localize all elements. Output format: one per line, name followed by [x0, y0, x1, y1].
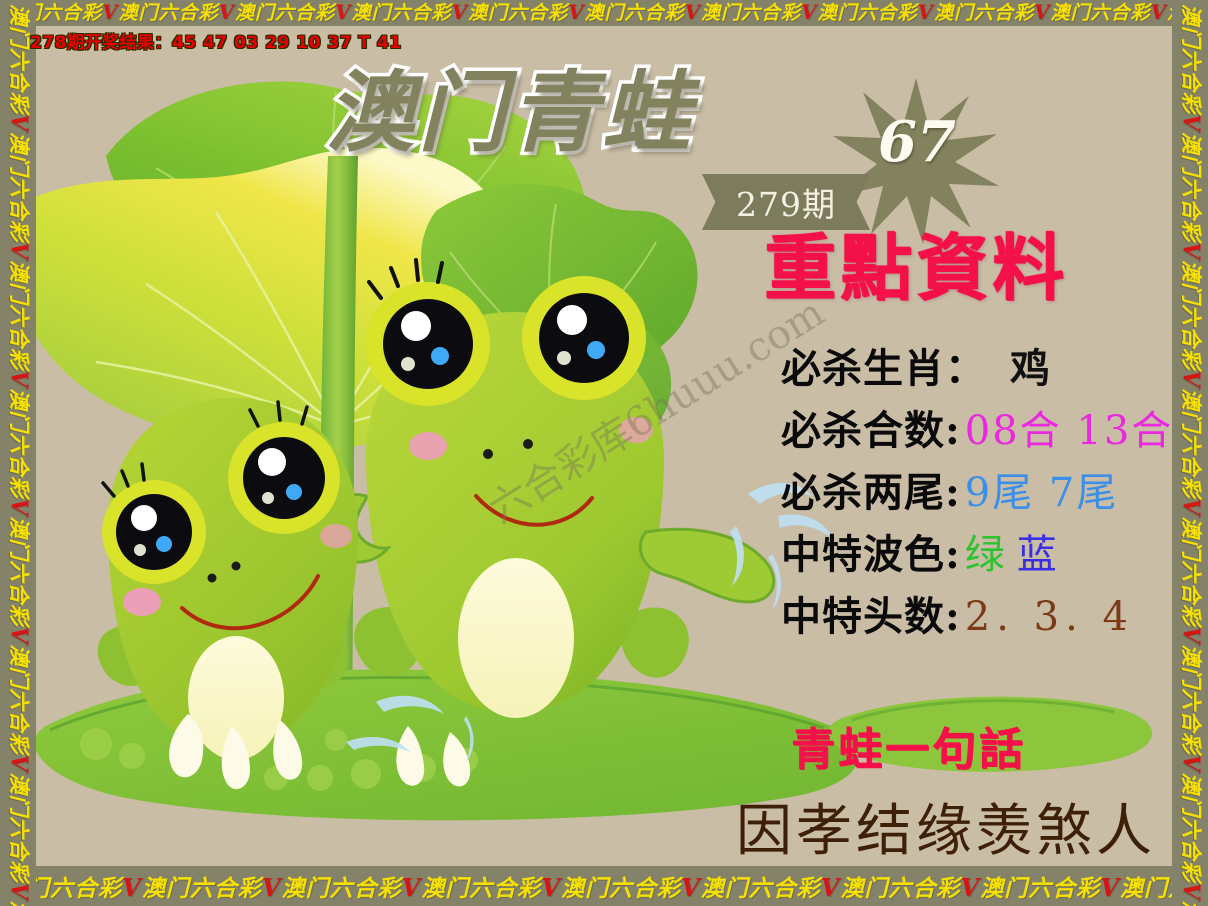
issue-label: 279期 — [736, 178, 836, 226]
info-row-toushu: 中特头数: 2. 3. 4 — [781, 586, 1172, 648]
border-repeat-text: 澳门六合彩V澳门六合彩V澳门六合彩V澳门六合彩V澳门六合彩V澳门六合彩V澳门六合… — [8, 4, 30, 906]
row-value: 9尾 7尾 — [965, 462, 1119, 524]
row-value: 08合 13合 — [965, 400, 1172, 462]
row-label: 中特波色: — [781, 524, 961, 586]
border-repeat-text: 澳门六合彩V澳门六合彩V澳门六合彩V澳门六合彩V澳门六合彩V澳门六合彩V澳门六合… — [2, 3, 1208, 23]
info-row-liangwei: 必杀两尾: 9尾 7尾 — [781, 462, 1172, 524]
row-label: 中特头数: — [781, 586, 961, 648]
row-label: 必杀生肖： — [781, 338, 986, 400]
draw-result-line: 278期开奖结果：45 47 03 29 10 37 T 41 — [30, 28, 402, 53]
row-value: 鸡 — [1010, 338, 1052, 400]
row-label: 必杀合数: — [781, 400, 961, 462]
border-repeat-text: 澳门六合彩V澳门六合彩V澳门六合彩V澳门六合彩V澳门六合彩V澳门六合彩V澳门六合… — [2, 876, 1208, 900]
info-row-heshu: 必杀合数: 08合 13合 — [781, 400, 1172, 462]
poster-canvas: 67 澳门青蛙 279期 六合彩库6huuu.com 重點資料 必杀生肖： 鸡 … — [0, 0, 1208, 906]
border-left: 澳门六合彩V澳门六合彩V澳门六合彩V澳门六合彩V澳门六合彩V澳门六合彩V澳门六合… — [0, 0, 36, 906]
row-value: 绿蓝 — [965, 524, 1059, 586]
frog-icon — [320, 260, 774, 718]
info-rows: 必杀生肖： 鸡 必杀合数: 08合 13合 必杀两尾: 9尾 7尾 中特波色: … — [781, 338, 1172, 648]
frog-eye-right — [522, 276, 646, 400]
issue-banner: 279期 — [702, 174, 870, 230]
star-number: 67 — [878, 114, 956, 170]
info-row-shengxiao: 必杀生肖： 鸡 — [781, 338, 1172, 400]
row-label: 必杀两尾: — [781, 462, 961, 524]
info-row-bose: 中特波色: 绿蓝 — [781, 524, 1172, 586]
frog-belly — [458, 558, 574, 718]
row-value-blue: 蓝 — [1017, 532, 1059, 578]
panel-heading: 重點資料 — [764, 232, 1068, 304]
poster-stage: 67 澳门青蛙 279期 六合彩库6huuu.com 重點資料 必杀生肖： 鸡 … — [36, 26, 1172, 866]
border-repeat-text: 澳门六合彩V澳门六合彩V澳门六合彩V澳门六合彩V澳门六合彩V澳门六合彩V澳门六合… — [1180, 4, 1202, 906]
phrase-body: 因孝结缘羡煞人 — [736, 801, 1156, 863]
phrase-heading: 青蛙一句話 — [791, 728, 1026, 772]
page-title: 澳门青蛙 — [326, 68, 694, 156]
row-value-green: 绿 — [965, 532, 1007, 578]
row-value: 2. 3. 4 — [965, 586, 1134, 648]
border-right: 澳门六合彩V澳门六合彩V澳门六合彩V澳门六合彩V澳门六合彩V澳门六合彩V澳门六合… — [1172, 0, 1208, 906]
border-bottom: 澳门六合彩V澳门六合彩V澳门六合彩V澳门六合彩V澳门六合彩V澳门六合彩V澳门六合… — [0, 866, 1208, 906]
border-top: 澳门六合彩V澳门六合彩V澳门六合彩V澳门六合彩V澳门六合彩V澳门六合彩V澳门六合… — [0, 0, 1208, 26]
